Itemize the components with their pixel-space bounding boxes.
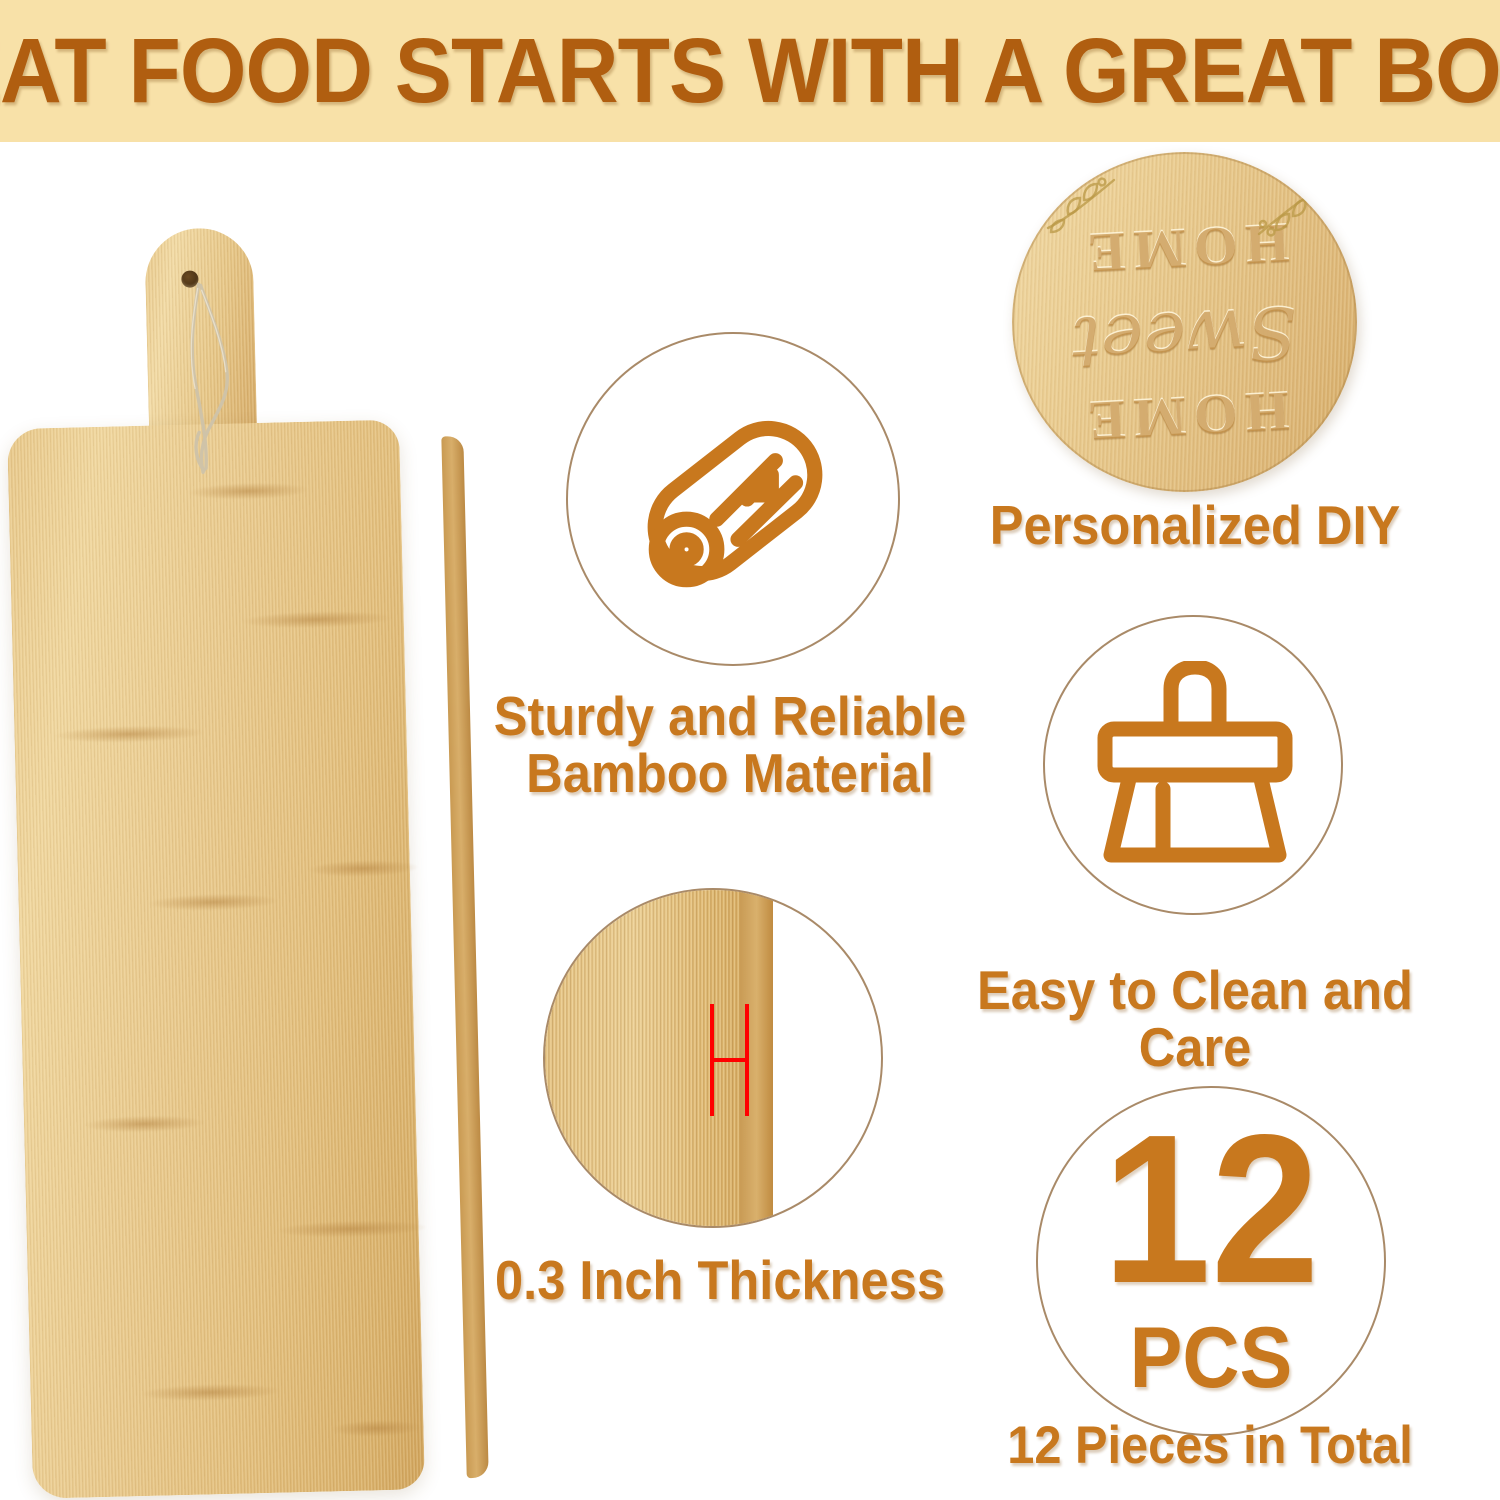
quantity-unit: PCS <box>1052 1320 1370 1397</box>
feature-circle-easy-clean <box>1043 615 1343 915</box>
feature-label-thickness: 0.3 Inch Thickness <box>462 1252 977 1309</box>
quantity-number: 12 <box>1052 1114 1370 1305</box>
engraved-round-board-photo: HOME Sweet HOME <box>1012 152 1357 492</box>
feature-label-quantity: 12 Pieces in Total <box>943 1418 1477 1473</box>
feature-circle-sturdy-bamboo <box>566 332 900 666</box>
product-board-photo <box>0 196 454 1488</box>
twine-loop <box>171 282 238 491</box>
thickness-caliper-marker <box>705 1000 765 1120</box>
leaf-sprig-icon-top <box>1247 174 1331 244</box>
board-surface <box>7 420 425 1499</box>
engraving-layer: HOME Sweet HOME <box>1012 152 1357 492</box>
cleaning-brush-icon <box>1093 661 1297 873</box>
header-banner: GREAT FOOD STARTS WITH A GREAT BOARD <box>0 0 1500 142</box>
page-title: GREAT FOOD STARTS WITH A GREAT BOARD <box>0 25 1500 117</box>
feature-circle-quantity: 12 PCS <box>1036 1086 1386 1436</box>
engraving-line-1: HOME <box>1012 375 1357 457</box>
wood-log-icon <box>624 390 846 612</box>
leaf-sprig-icon-bottom <box>1042 170 1126 240</box>
board-thickness-edge <box>441 436 488 1478</box>
feature-label-personalized-diy: Personalized DIY <box>956 497 1434 554</box>
feature-label-sturdy-bamboo: Sturdy and Reliable Bamboo Material <box>463 688 997 802</box>
feature-circle-thickness <box>543 888 883 1228</box>
feature-label-easy-clean: Easy to Clean and Care <box>928 962 1462 1076</box>
engraving-line-2: Sweet <box>1012 287 1357 389</box>
